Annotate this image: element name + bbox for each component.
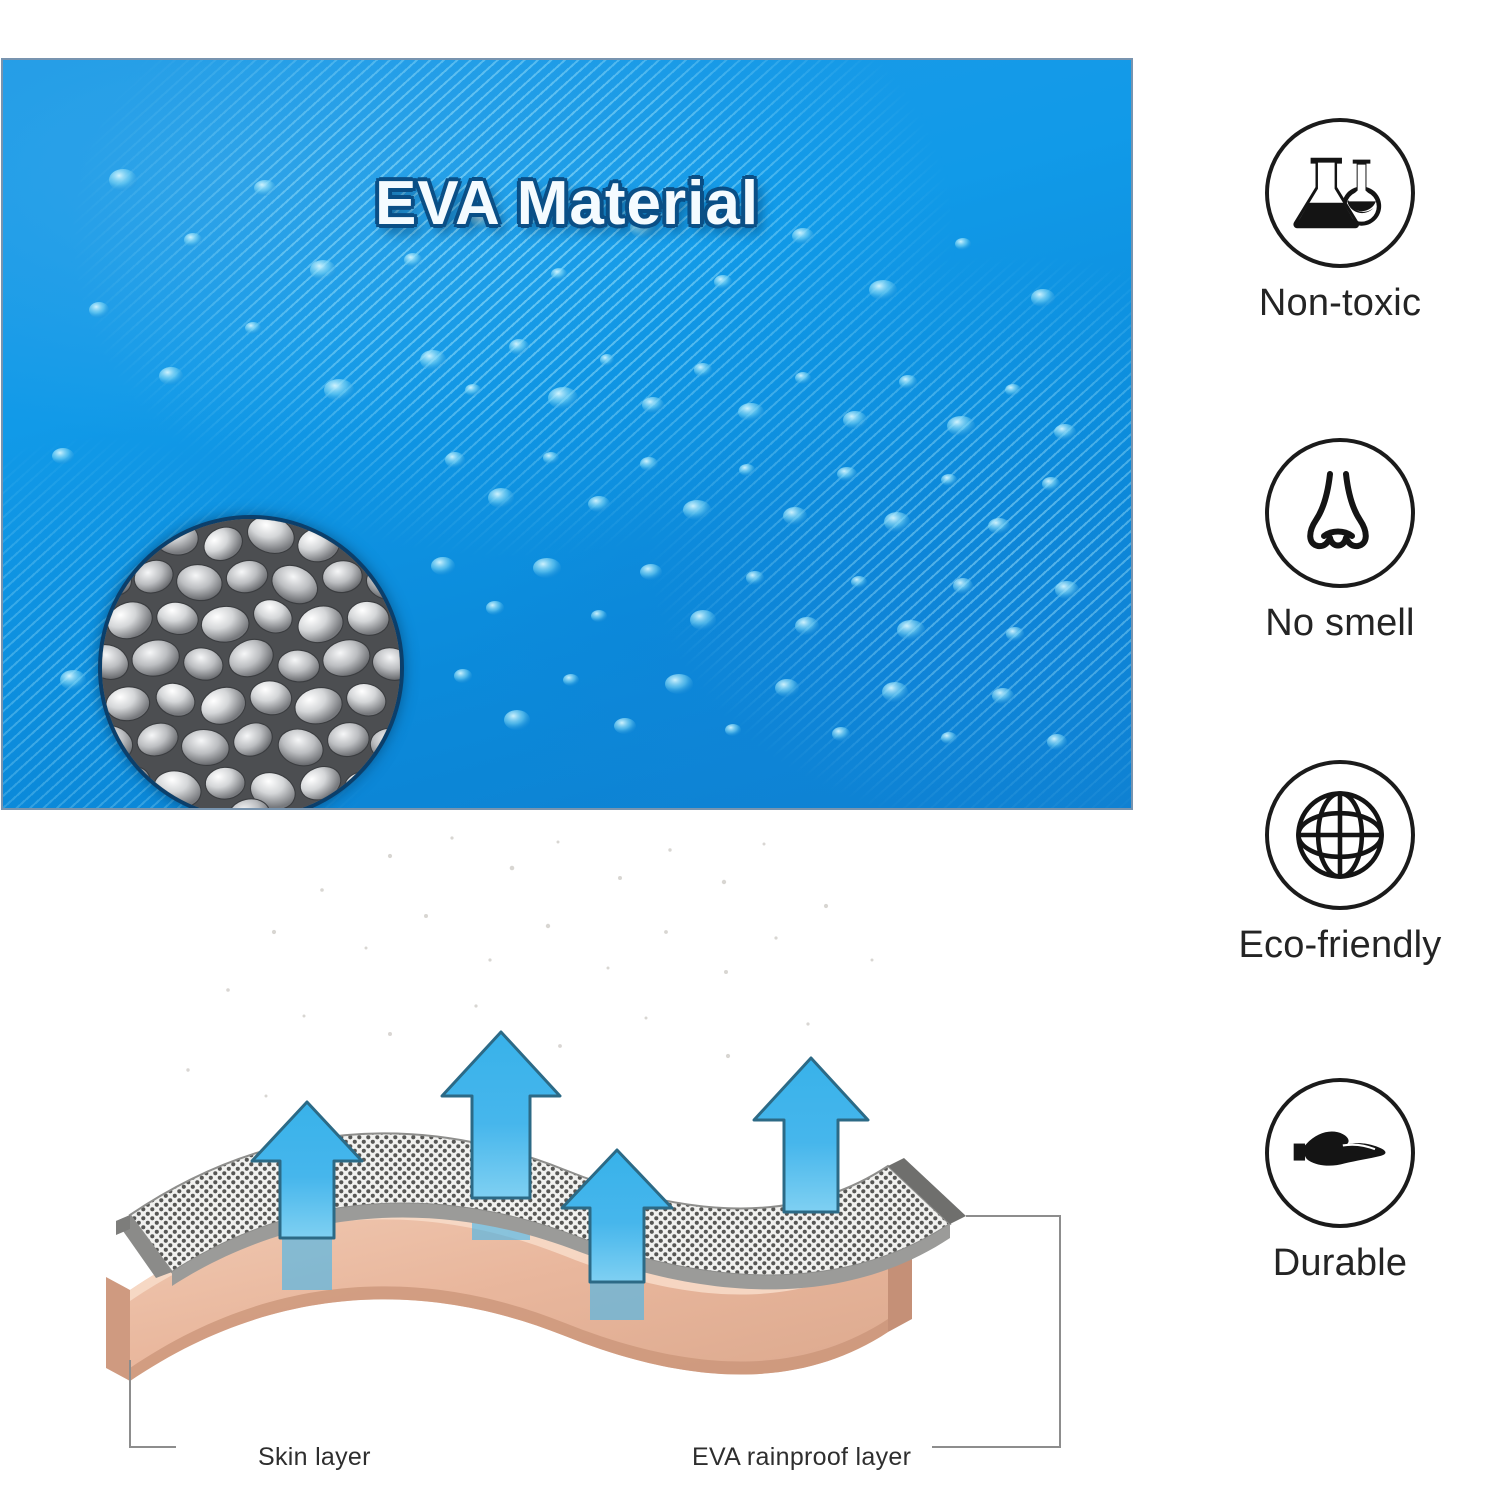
feature-label: Durable bbox=[1180, 1242, 1500, 1285]
skin-layer-caption: Skin layer bbox=[258, 1443, 371, 1472]
speckles bbox=[186, 836, 873, 1097]
flask-icon bbox=[1291, 144, 1389, 242]
page-title: EVA Material bbox=[3, 168, 1131, 239]
eva-pellets-inset bbox=[98, 515, 404, 808]
feature-no-smell[interactable]: No smell bbox=[1180, 438, 1500, 645]
feature-badge-circle bbox=[1265, 760, 1415, 910]
feature-badges-column: Non-toxic No smell bbox=[1180, 60, 1500, 1440]
feature-badge-circle bbox=[1265, 118, 1415, 268]
layer-structure-diagram bbox=[60, 820, 1090, 1500]
hand-icon bbox=[1288, 1118, 1392, 1188]
eva-material-panel: EVA Material bbox=[3, 60, 1131, 808]
nose-icon bbox=[1290, 466, 1390, 560]
feature-label: No smell bbox=[1180, 602, 1500, 645]
feature-badge-circle bbox=[1265, 438, 1415, 588]
feature-badge-circle bbox=[1265, 1078, 1415, 1228]
feature-label: Eco-friendly bbox=[1180, 924, 1500, 967]
feature-label: Non-toxic bbox=[1180, 282, 1500, 325]
feature-non-toxic[interactable]: Non-toxic bbox=[1180, 118, 1500, 325]
eva-layer-caption: EVA rainproof layer bbox=[692, 1443, 911, 1472]
feature-eco-friendly[interactable]: Eco-friendly bbox=[1180, 760, 1500, 967]
feature-durable[interactable]: Durable bbox=[1180, 1078, 1500, 1285]
globe-icon bbox=[1288, 783, 1392, 887]
